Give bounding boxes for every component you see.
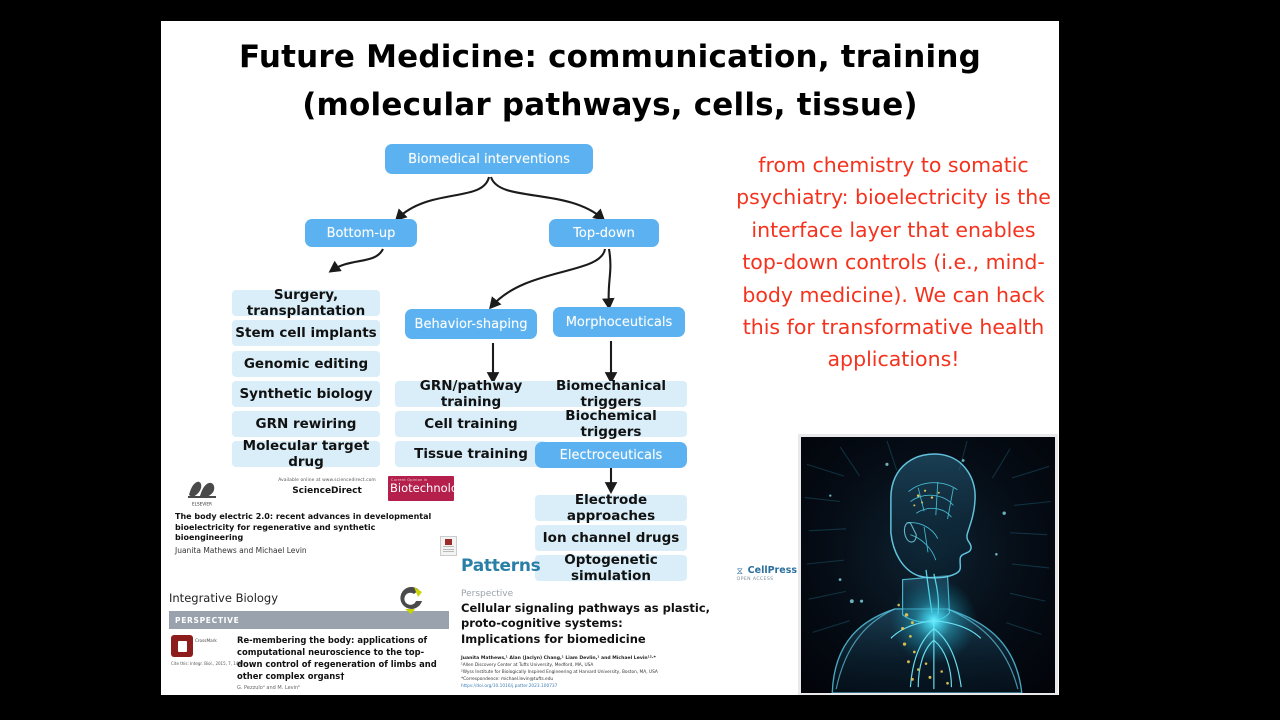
sciencedirect-article-authors: Juanita Mathews and Michael Levin — [175, 546, 433, 555]
edge-root-bottomup — [397, 177, 489, 219]
edge-bottomup-list — [331, 249, 383, 271]
screen-letterbox: Future Medicine: communication, training… — [0, 0, 1280, 720]
cellpress-mark-icon: ⧖ — [737, 568, 746, 577]
section-label: PERSPECTIVE — [169, 616, 239, 625]
node-label: GRN rewiring — [256, 416, 357, 432]
leaf-grn-rewiring[interactable]: GRN rewiring — [232, 411, 380, 437]
patterns-correspondence: *Correspondence: michael.levin@tufts.edu — [461, 676, 811, 683]
patterns-doi-link[interactable]: https://doi.org/10.1016/j.patter.2023.10… — [461, 683, 811, 690]
edge-topdown-behavior — [491, 249, 605, 307]
integrative-biology-article-title: Re-membering the body: applications of c… — [237, 635, 437, 683]
node-label: Synthetic biology — [239, 386, 372, 402]
edge-root-topdown — [491, 177, 603, 219]
leaf-stem-cell-implants[interactable]: Stem cell implants — [232, 320, 380, 346]
elsevier-logo-icon: ELSEVIER — [187, 477, 217, 507]
sciencedirect-article-title: The body electric 2.0: recent advances i… — [175, 512, 433, 544]
node-bottom-up[interactable]: Bottom-up — [305, 219, 417, 247]
leaf-biochemical-triggers[interactable]: Biochemical triggers — [535, 411, 687, 437]
integrative-biology-article-authors: G. Pezzuloᵃ and M. Levinᵇ — [237, 685, 300, 691]
integrative-biology-cite-line: Cite this: Integr. Biol., 2015, 7, 1487 — [171, 661, 243, 667]
rsc-logo-icon — [395, 583, 427, 615]
leaf-genomic-editing[interactable]: Genomic editing — [232, 351, 380, 377]
cellpress-line: ⧖CellPress — [737, 558, 797, 577]
title-line-1: Future Medicine: communication, training — [239, 39, 981, 75]
current-opinion-biotechnology-badge: Current Opinion in Biotechnology — [388, 476, 454, 501]
node-label: Electroceuticals — [560, 448, 663, 463]
patterns-title-line-1: Cellular signaling pathways as plastic, — [461, 601, 811, 616]
node-label: Bottom-up — [327, 226, 396, 241]
node-label: Stem cell implants — [235, 325, 376, 341]
title-line-2: (molecular pathways, cells, tissue) — [161, 81, 1059, 129]
patterns-affiliation-2: ²Wyss Institute for Biologically Inspire… — [461, 669, 811, 676]
slide-title: Future Medicine: communication, training… — [161, 33, 1059, 129]
presentation-slide: Future Medicine: communication, training… — [161, 21, 1059, 695]
bioelectric-human-figure-image — [798, 434, 1058, 695]
human-figure-illustration — [801, 437, 1055, 693]
node-label: Cell training — [424, 416, 517, 432]
intervention-flowchart: Biomedical interventions Bottom-up Top-d… — [161, 141, 721, 471]
integrative-biology-body: CrossMark Cite this: Integr. Biol., 2015… — [169, 635, 449, 695]
crossmark-stamp-icon — [171, 635, 193, 657]
node-label: GRN/pathway training — [395, 378, 547, 410]
leaf-molecular-target-drug[interactable]: Molecular target drug — [232, 441, 380, 467]
edge-topdown-morpho — [609, 249, 611, 307]
node-label: Tissue training — [414, 446, 528, 462]
leaf-grn-pathway-training[interactable]: GRN/pathway training — [395, 381, 547, 407]
node-label: Top-down — [573, 226, 635, 241]
leaf-cell-training[interactable]: Cell training — [395, 411, 547, 437]
open-access-label: OPEN ACCESS — [737, 577, 797, 582]
node-label: Biomedical interventions — [408, 152, 570, 167]
patterns-article-title: Cellular signaling pathways as plastic, … — [461, 601, 811, 647]
badge-title: Biotechnology — [388, 481, 454, 495]
svg-text:ELSEVIER: ELSEVIER — [192, 501, 212, 506]
node-label: Biomechanical triggers — [535, 378, 687, 410]
citation-patterns: Patterns ⧖CellPress OPEN ACCESS Perspect… — [461, 556, 811, 691]
callout-text: from chemistry to somatic psychiatry: bi… — [731, 149, 1056, 376]
cellpress-wordmark: CellPress — [748, 565, 797, 576]
node-label: Biochemical triggers — [535, 408, 687, 440]
patterns-title-line-2: proto-cognitive systems: — [461, 616, 811, 631]
cellpress-logo-block: ⧖CellPress OPEN ACCESS — [737, 558, 797, 582]
leaf-electroceuticals-highlighted[interactable]: Electroceuticals — [535, 442, 687, 468]
crossmark-label: CrossMark — [195, 638, 217, 643]
leaf-surgery-transplantation[interactable]: Surgery, transplantation — [232, 290, 380, 316]
citation-sciencedirect: ELSEVIER Available online at www.science… — [175, 476, 475, 510]
node-morphoceuticals[interactable]: Morphoceuticals — [553, 307, 685, 337]
leaf-ion-channel-drugs[interactable]: Ion channel drugs — [535, 525, 687, 551]
node-label: Surgery, transplantation — [232, 287, 380, 319]
node-behavior-shaping[interactable]: Behavior-shaping — [405, 309, 537, 339]
patterns-header: Patterns ⧖CellPress OPEN ACCESS — [461, 556, 811, 580]
node-top-down[interactable]: Top-down — [549, 219, 659, 247]
leaf-biomechanical-triggers[interactable]: Biomechanical triggers — [535, 381, 687, 407]
patterns-article-authors: Juanita Mathews,¹ Alan (Jaclyn) Chang,¹ … — [461, 655, 811, 662]
node-label: Morphoceuticals — [566, 315, 673, 330]
node-label: Ion channel drugs — [543, 530, 680, 546]
leaf-electrode-approaches[interactable]: Electrode approaches — [535, 495, 687, 521]
patterns-section-label: Perspective — [461, 589, 811, 599]
patterns-title-line-3: Implications for biomedicine — [461, 632, 811, 647]
node-label: Genomic editing — [244, 356, 368, 372]
patterns-affiliation-1: ¹Allen Discovery Center at Tufts Univers… — [461, 662, 811, 669]
leaf-tissue-training[interactable]: Tissue training — [395, 441, 547, 467]
node-biomedical-interventions[interactable]: Biomedical interventions — [385, 144, 593, 174]
article-thumbnail-icon — [440, 536, 457, 556]
citation-integrative-biology: Integrative Biology PERSPECTIVE CrossMar… — [169, 591, 449, 695]
node-label: Behavior-shaping — [415, 317, 528, 332]
sciencedirect-header: ELSEVIER Available online at www.science… — [175, 476, 475, 510]
node-label: Molecular target drug — [232, 438, 380, 470]
node-label: Electrode approaches — [535, 492, 687, 524]
leaf-synthetic-biology[interactable]: Synthetic biology — [232, 381, 380, 407]
